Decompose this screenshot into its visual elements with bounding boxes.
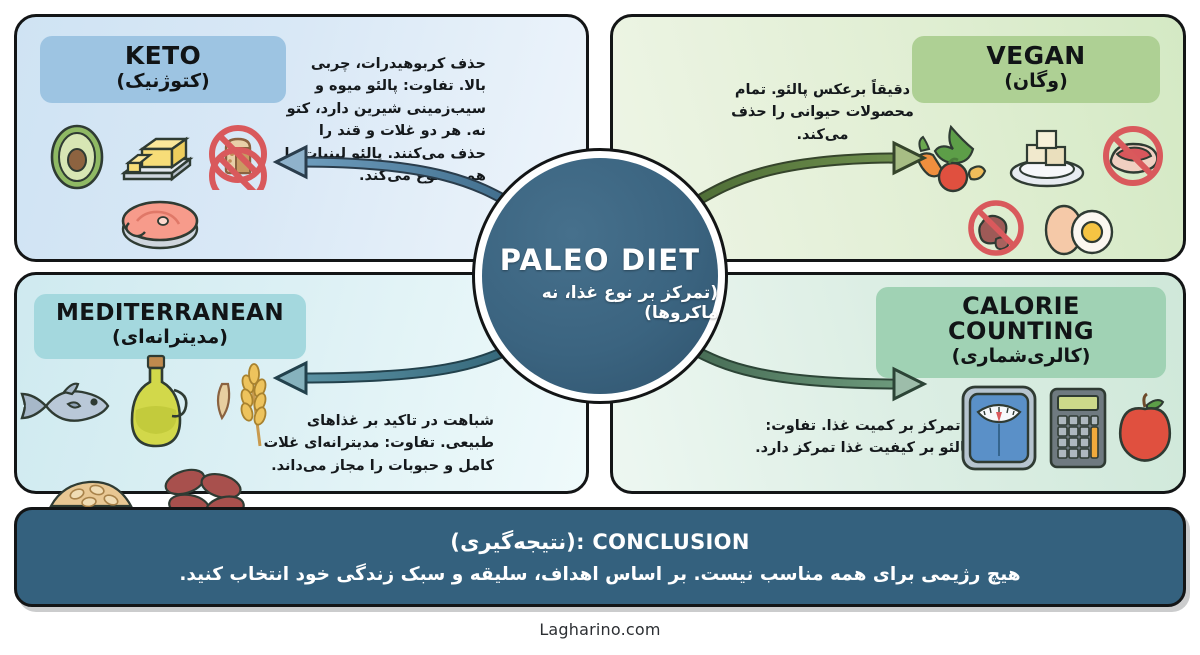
panel-vegan-title-fa: (وگان) xyxy=(928,70,1144,94)
panel-keto-description: حذف کربوهیدرات، چربی بالا. تفاوت: پالئو … xyxy=(281,53,486,188)
no-liver-icon xyxy=(962,195,1030,261)
no-meat-icon xyxy=(1097,120,1169,192)
center-hub-title-en: PALEO DIET xyxy=(500,243,701,277)
panel-vegan-icon-group xyxy=(915,117,1165,261)
panel-mediterranean-title-pill: MEDITERRANEAN (مدیترانه‌ای) xyxy=(34,294,306,359)
center-hub-paleo-diet: PALEO DIET (تمرکز بر نوع غذا، نه ماکروها… xyxy=(472,148,728,404)
panel-mediterranean-title-fa: (مدیترانه‌ای) xyxy=(50,326,290,350)
panel-calorie-counting-description: تمرکز بر کمیت غذا. تفاوت: پالئو بر کیفیت… xyxy=(753,415,973,460)
panel-vegan-description: دقیقاً برعکس پالئو. تمام محصولات حیوانی … xyxy=(730,79,915,146)
no-bread-icon xyxy=(202,118,274,190)
paleo-diet-comparison-infographic: KETO (کتوژنیک) حذف کربوهیدرات، چربی بالا… xyxy=(0,0,1200,655)
conclusion-body: هیچ رژیمی برای همه مناسب نیست. بر اساس ا… xyxy=(179,564,1020,585)
conclusion-bar: CONCLUSION :(نتیجه‌گیری) هیچ رژیمی برای … xyxy=(14,507,1186,607)
panel-keto-title-pill: KETO (کتوژنیک) xyxy=(40,36,286,103)
tofu-plate-icon xyxy=(1005,121,1089,191)
panel-calorie-counting-title-fa: (کالری‌شماری) xyxy=(892,345,1150,369)
panel-mediterranean-description: شباهت در تاکید بر غذاهای طبیعی. تفاوت: م… xyxy=(259,410,494,477)
eggs-icon xyxy=(1038,196,1118,260)
avocado-icon xyxy=(46,117,108,191)
fish-icon xyxy=(16,378,112,434)
calculator-icon xyxy=(1048,386,1108,470)
panel-keto-title-en: KETO xyxy=(56,43,270,69)
panel-calorie-counting-title-en: CALORIE COUNTING xyxy=(892,294,1150,344)
center-hub-inner: PALEO DIET (تمرکز بر نوع غذا، نه ماکروها… xyxy=(482,158,718,394)
salmon-steak-icon xyxy=(107,191,213,257)
panel-mediterranean-icon-group xyxy=(18,352,276,522)
apple-icon xyxy=(1116,391,1174,465)
panel-mediterranean-title-en: MEDITERRANEAN xyxy=(50,301,290,325)
center-hub-title-fa: (تمرکز بر نوع غذا، نه ماکروها) xyxy=(482,283,718,323)
panel-keto-icon-group xyxy=(45,117,275,257)
butter-icon xyxy=(116,119,194,189)
panel-calorie-counting-icon-group xyxy=(953,382,1178,474)
panel-calorie-counting-title-pill: CALORIE COUNTING (کالری‌شماری) xyxy=(876,287,1166,378)
panel-vegan-title-en: VEGAN xyxy=(928,43,1144,69)
vegetables-icon xyxy=(911,117,997,195)
footer-credit: Lagharino.com xyxy=(0,620,1200,639)
panel-vegan-title-pill: VEGAN (وگان) xyxy=(912,36,1160,103)
conclusion-heading: CONCLUSION :(نتیجه‌گیری) xyxy=(450,530,749,554)
bathroom-scale-icon xyxy=(958,382,1040,474)
panel-keto-title-fa: (کتوژنیک) xyxy=(56,70,270,94)
olive-oil-bottle-icon xyxy=(120,352,196,460)
wheat-icon xyxy=(204,358,278,454)
